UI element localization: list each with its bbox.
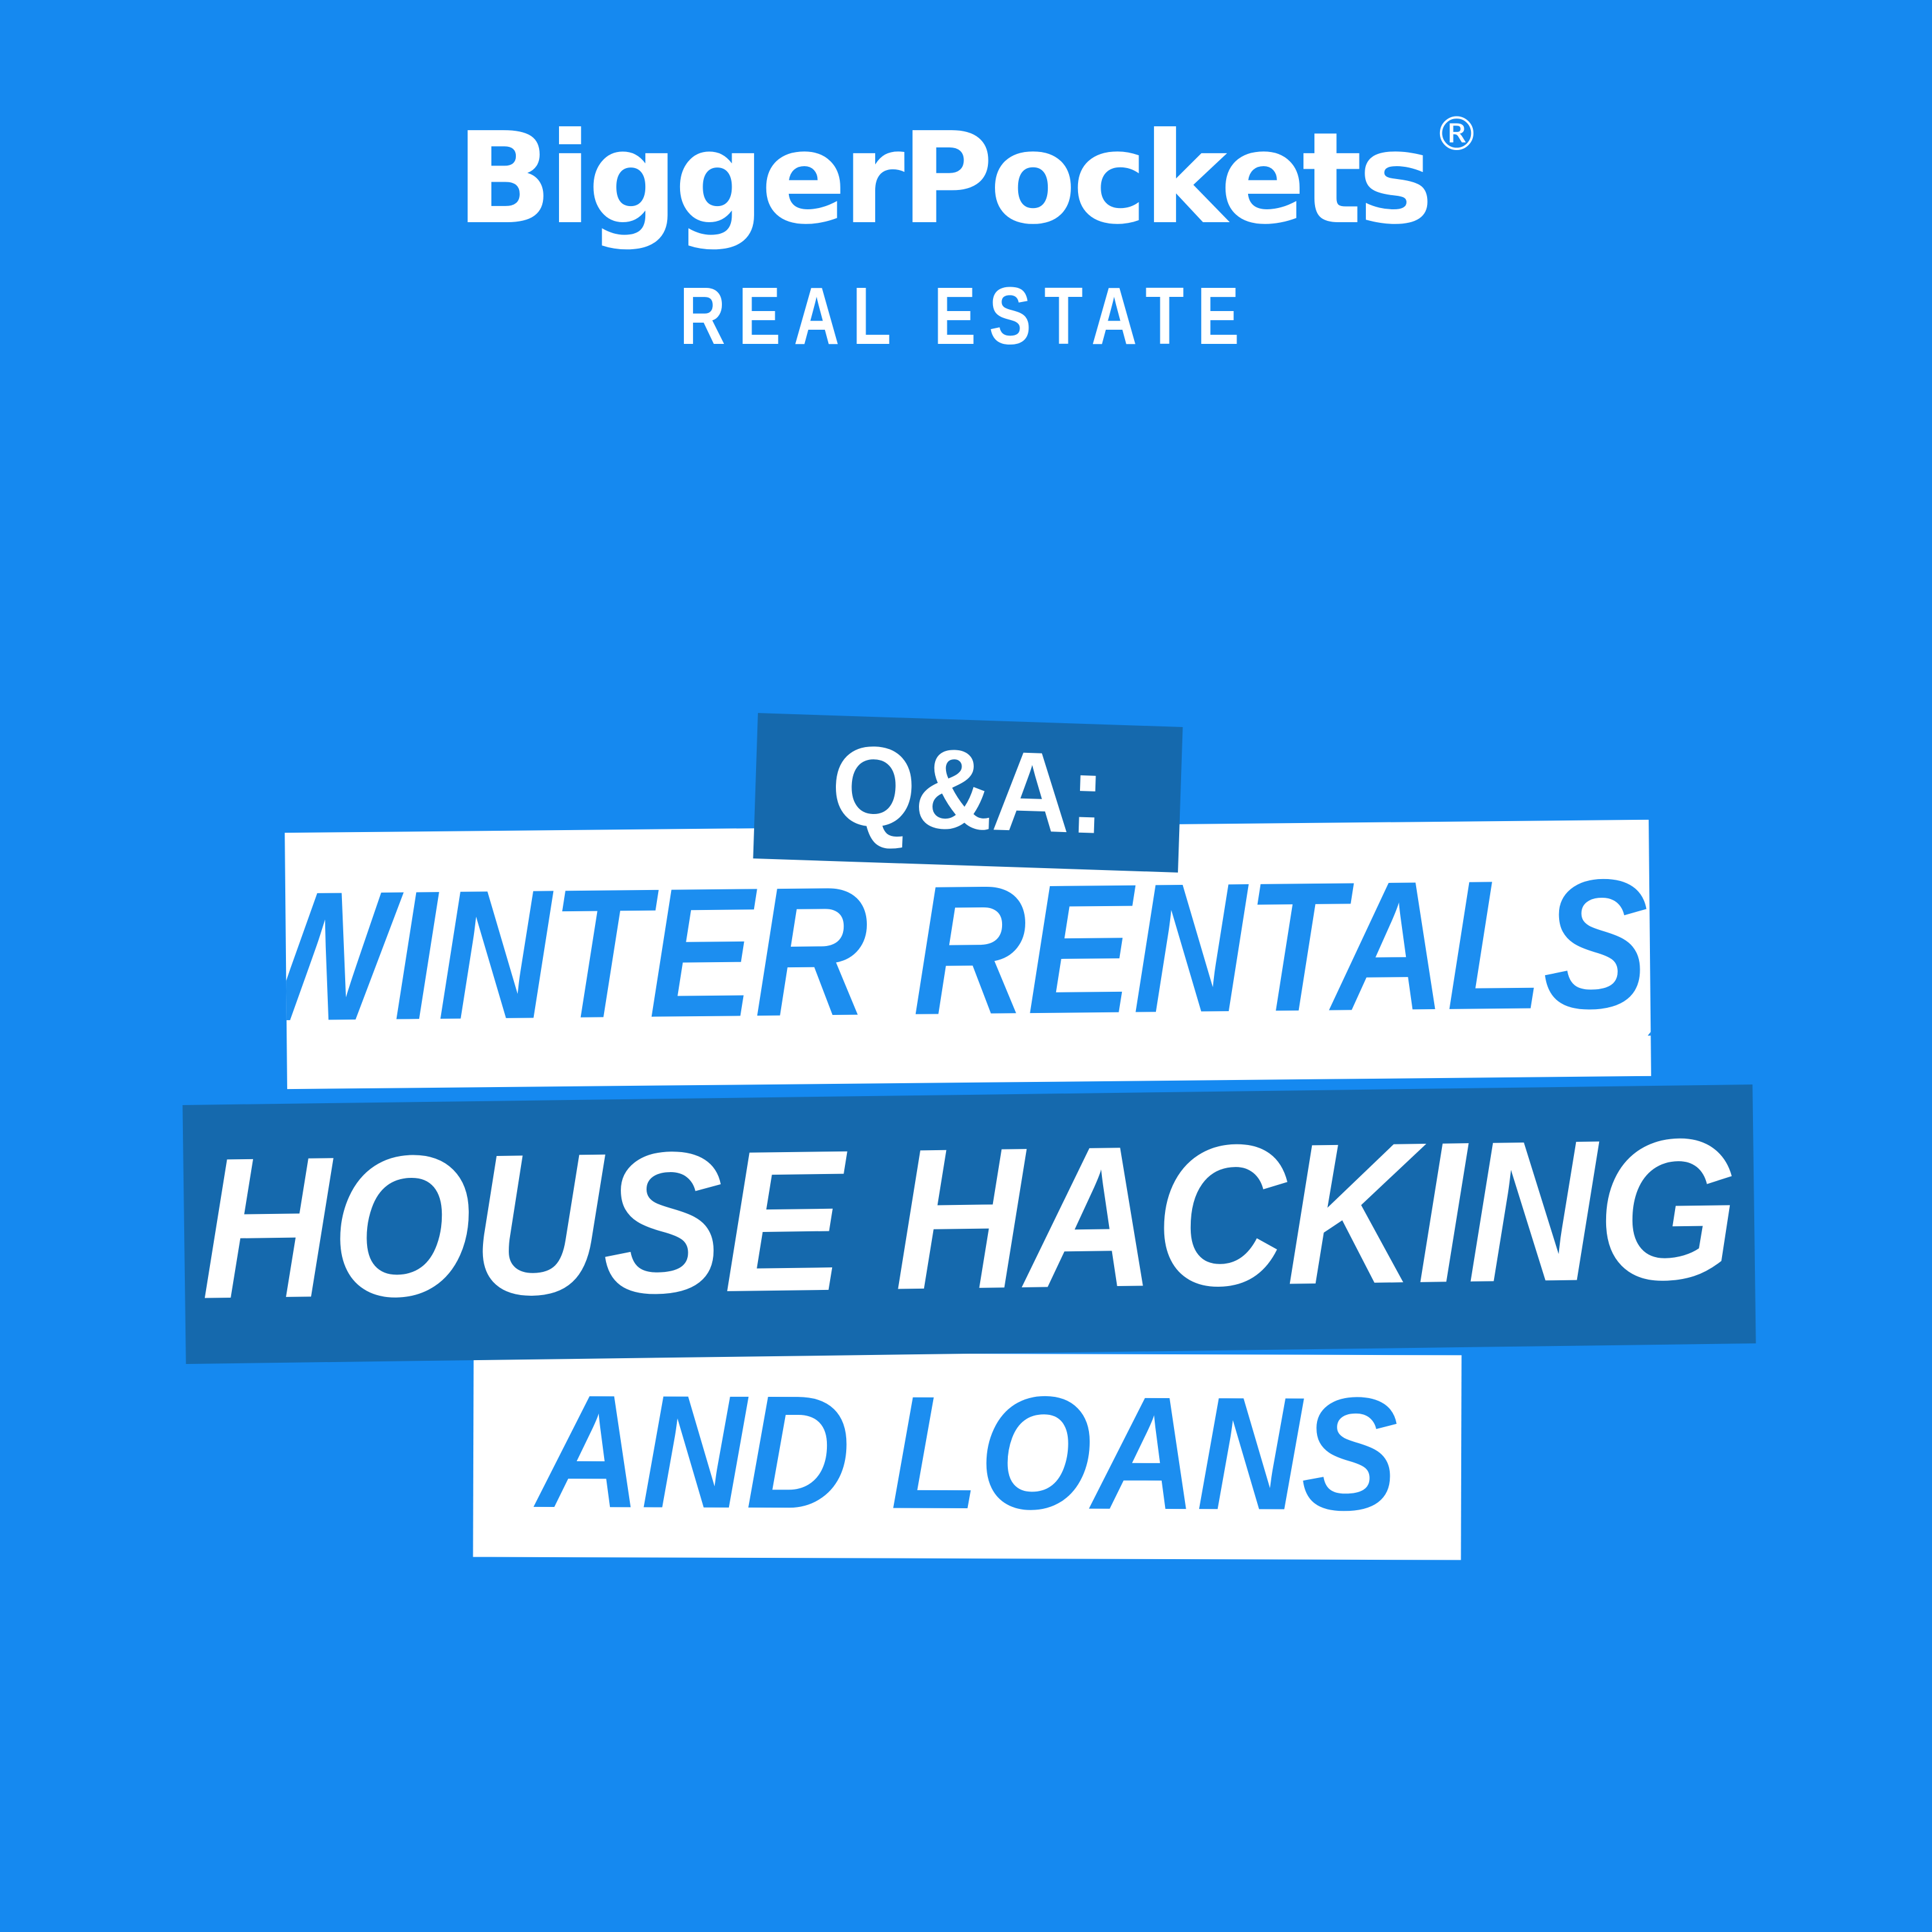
qa-tag-label: Q&A: [829, 729, 1106, 857]
title-band-line-3: AND LOANS [473, 1352, 1462, 1560]
title-line-2-label: HOUSE HACKING [199, 1108, 1739, 1340]
title-line-1-label: WINTER RENTALS, [285, 851, 1651, 1058]
qa-tag-badge: Q&A: [753, 713, 1182, 873]
title-line-3-label: AND LOANS [536, 1371, 1398, 1541]
title-band-line-2: HOUSE HACKING [182, 1084, 1756, 1364]
episode-title-stack: Q&A: WINTER RENTALS, HOUSE HACKING AND L… [0, 0, 1932, 1932]
podcast-cover-art: BiggerPockets® REAL ESTATE Q&A: WINTER R… [0, 0, 1932, 1932]
